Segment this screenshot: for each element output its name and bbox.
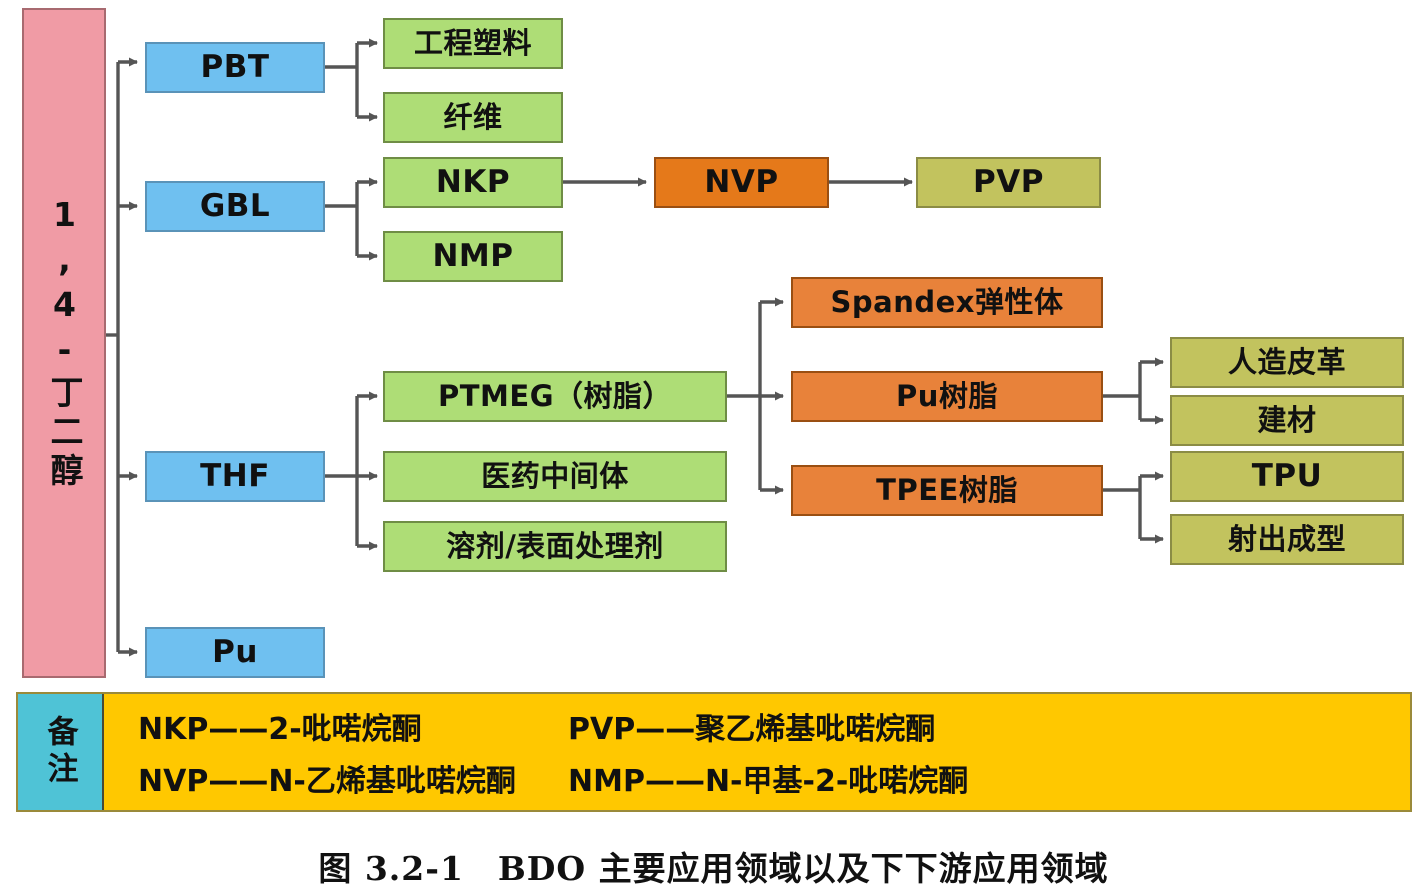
node-ptmeg[interactable]: PTMEG（树脂） <box>383 371 727 422</box>
node-spandex-elastomer-label: Spandex弹性体 <box>831 287 1064 317</box>
node-injection-molding[interactable]: 射出成型 <box>1170 514 1404 565</box>
node-nmp[interactable]: NMP <box>383 231 563 282</box>
node-tpee-resin[interactable]: TPEE树脂 <box>791 465 1103 516</box>
root-node-label: 1,4-丁二醇 <box>40 195 88 492</box>
node-pvp-label: PVP <box>973 166 1044 199</box>
node-tpu-label: TPU <box>1252 460 1323 493</box>
figure-caption: 图 3.2-1 BDO 主要应用领域以及下下游应用领域 <box>0 842 1427 890</box>
node-fiber-label: 纤维 <box>443 102 502 132</box>
node-injection-molding-label: 射出成型 <box>1228 524 1346 554</box>
node-nkp[interactable]: NKP <box>383 157 563 208</box>
node-spandex-elastomer[interactable]: Spandex弹性体 <box>791 277 1103 328</box>
node-engineering-plastic-label: 工程塑料 <box>414 28 532 58</box>
node-pharma-intermediate-label: 医药中间体 <box>481 461 629 491</box>
node-building-material-label: 建材 <box>1257 405 1316 435</box>
notes-label-cell: 备注 <box>18 694 104 810</box>
node-nmp-label: NMP <box>432 240 513 273</box>
node-pu-resin-label: Pu树脂 <box>896 381 998 411</box>
node-solvent-surface-agent-label: 溶剂/表面处理剂 <box>446 531 664 561</box>
node-artificial-leather[interactable]: 人造皮革 <box>1170 337 1404 388</box>
note-pvp: PVP——聚乙烯基吡喏烷酮 <box>568 704 935 748</box>
node-pu-label: Pu <box>212 636 258 669</box>
node-thf[interactable]: THF <box>145 451 325 502</box>
node-gbl-label: GBL <box>200 190 270 223</box>
notes-body: NKP——2-吡喏烷酮 PVP——聚乙烯基吡喏烷酮 NVP——N-乙烯基吡喏烷酮… <box>104 694 1410 810</box>
node-gbl[interactable]: GBL <box>145 181 325 232</box>
node-thf-label: THF <box>200 460 270 493</box>
node-tpee-resin-label: TPEE树脂 <box>876 475 1018 505</box>
node-fiber[interactable]: 纤维 <box>383 92 563 143</box>
note-nmp: NMP——N-甲基-2-吡喏烷酮 <box>568 756 968 800</box>
node-nvp[interactable]: NVP <box>654 157 829 208</box>
note-nkp: NKP——2-吡喏烷酮 <box>138 704 568 748</box>
node-nkp-label: NKP <box>436 166 510 199</box>
notes-panel: 备注 NKP——2-吡喏烷酮 PVP——聚乙烯基吡喏烷酮 NVP——N-乙烯基吡… <box>16 692 1412 812</box>
root-node-bdo[interactable]: 1,4-丁二醇 <box>22 8 106 678</box>
node-solvent-surface-agent[interactable]: 溶剂/表面处理剂 <box>383 521 727 572</box>
node-pbt-label: PBT <box>201 51 270 84</box>
note-nvp: NVP——N-乙烯基吡喏烷酮 <box>138 756 568 800</box>
node-pu[interactable]: Pu <box>145 627 325 678</box>
node-building-material[interactable]: 建材 <box>1170 395 1404 446</box>
notes-row: NKP——2-吡喏烷酮 PVP——聚乙烯基吡喏烷酮 <box>138 700 1410 752</box>
node-pu-resin[interactable]: Pu树脂 <box>791 371 1103 422</box>
node-tpu[interactable]: TPU <box>1170 451 1404 502</box>
notes-label-text: 备注 <box>38 715 83 789</box>
node-pharma-intermediate[interactable]: 医药中间体 <box>383 451 727 502</box>
node-engineering-plastic[interactable]: 工程塑料 <box>383 18 563 69</box>
node-pvp[interactable]: PVP <box>916 157 1101 208</box>
notes-row: NVP——N-乙烯基吡喏烷酮 NMP——N-甲基-2-吡喏烷酮 <box>138 752 1410 804</box>
node-nvp-label: NVP <box>704 166 778 199</box>
node-pbt[interactable]: PBT <box>145 42 325 93</box>
node-ptmeg-label: PTMEG（树脂） <box>438 381 672 411</box>
diagram-canvas: 1,4-丁二醇 PBT GBL THF Pu 工程塑料 纤维 NKP NMP P… <box>0 0 1427 892</box>
node-artificial-leather-label: 人造皮革 <box>1228 347 1346 377</box>
